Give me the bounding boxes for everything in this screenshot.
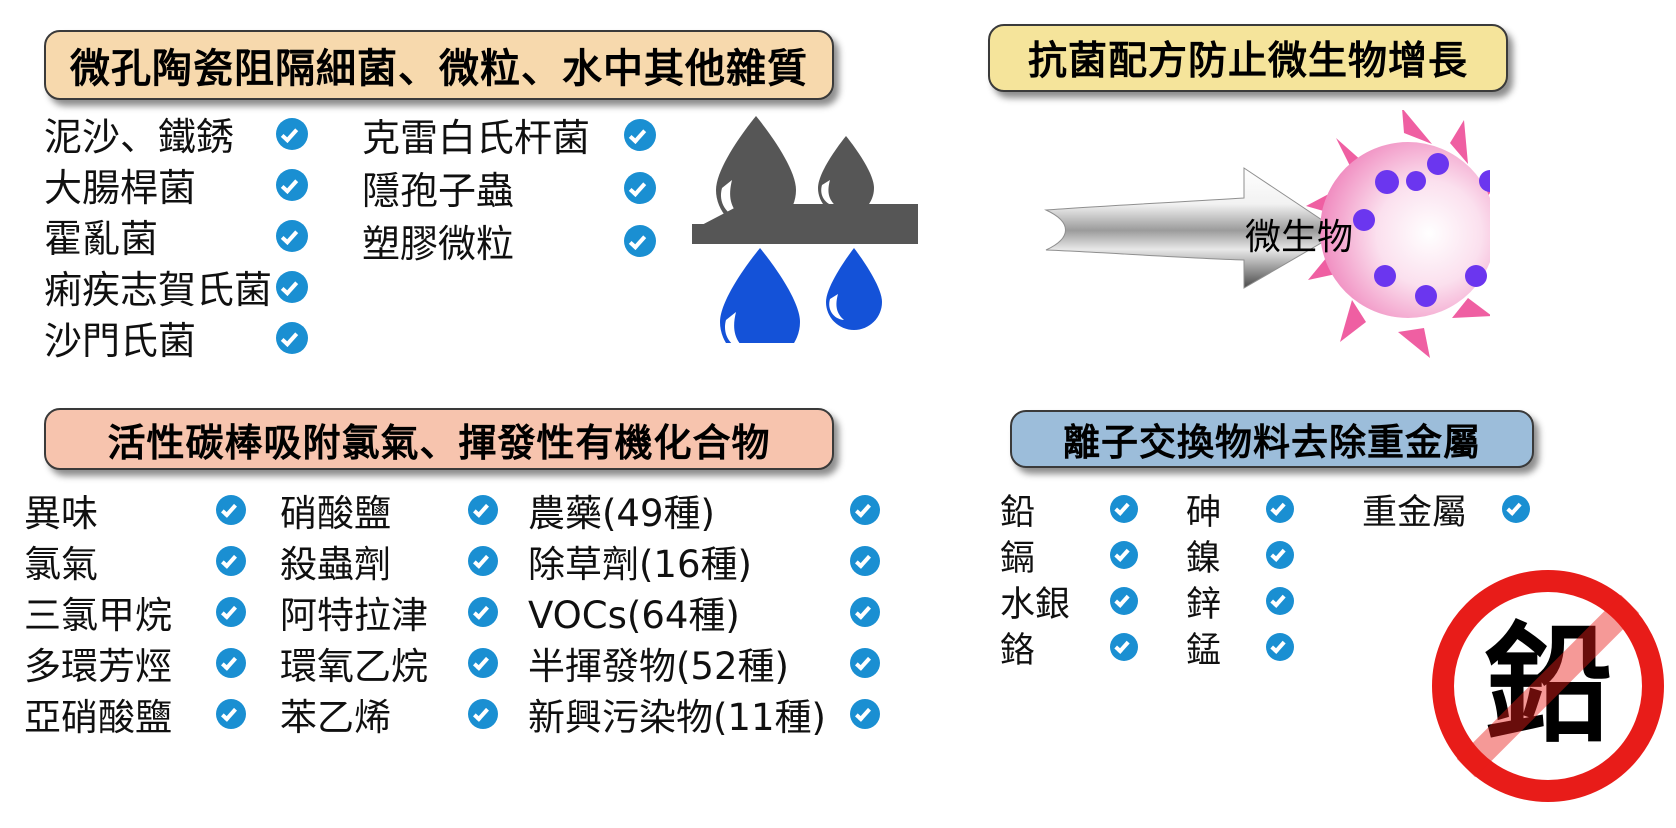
check-icon [468, 648, 498, 678]
list-item: 殺蟲劑 [280, 535, 498, 586]
list-item: 三氯甲烷 [24, 586, 246, 637]
check-icon [1110, 495, 1138, 523]
list-item-label: 隱孢子蟲 [362, 160, 624, 215]
check-icon [624, 172, 656, 204]
ion-list-col2: 砷 鎳 鋅 錳 [1186, 486, 1294, 670]
ceramic-list-right: 克雷白氏杆菌 隱孢子蟲 塑膠微粒 [362, 108, 656, 267]
list-item-label: 克雷白氏杆菌 [362, 107, 624, 162]
check-icon [468, 546, 498, 576]
ion-list-col3: 重金屬 [1362, 486, 1530, 532]
list-item-label: 除草劑(16種) [528, 534, 850, 588]
list-item: 隱孢子蟲 [362, 161, 656, 214]
list-item: 鎳 [1186, 532, 1294, 578]
microbe-label: 微生物 [1245, 208, 1353, 260]
panel-title-antibacterial: 抗菌配方防止微生物增長 [988, 24, 1508, 92]
no-lead-sign: 鉛 [1432, 570, 1664, 802]
list-item: 亞硝酸鹽 [24, 688, 246, 739]
check-icon [1266, 587, 1294, 615]
list-item-label: 錳 [1186, 622, 1266, 673]
list-item: 砷 [1186, 486, 1294, 532]
list-item-label: 重金屬 [1362, 484, 1502, 535]
list-item: 塑膠微粒 [362, 214, 656, 267]
list-item-label: 硝酸鹽 [280, 483, 468, 537]
list-item-label: 氯氣 [24, 534, 216, 588]
check-icon [468, 495, 498, 525]
check-icon [850, 495, 880, 525]
check-icon [1110, 541, 1138, 569]
list-item-label: 痢疾志賀氏菌 [44, 259, 276, 314]
ion-list-col1: 鉛 鎘 水銀 鉻 [1000, 486, 1138, 670]
panel-title-ceramic: 微孔陶瓷阻隔細菌、微粒、水中其他雜質 [44, 30, 834, 100]
list-item: VOCs(64種) [528, 586, 880, 637]
list-item: 大腸桿菌 [44, 159, 308, 210]
list-item: 多環芳烴 [24, 637, 246, 688]
check-icon [216, 699, 246, 729]
list-item: 重金屬 [1362, 486, 1530, 532]
infographic-canvas: 微孔陶瓷阻隔細菌、微粒、水中其他雜質 泥沙、鐵銹 大腸桿菌 霍亂菌 痢疾志賀氏菌… [0, 0, 1676, 828]
list-item: 除草劑(16種) [528, 535, 880, 586]
check-icon [276, 322, 308, 354]
list-item: 鉻 [1000, 624, 1138, 670]
check-icon [216, 495, 246, 525]
list-item-label: 異味 [24, 483, 216, 537]
list-item-label: 亞硝酸鹽 [24, 687, 216, 741]
check-icon [850, 699, 880, 729]
check-icon [1110, 633, 1138, 661]
list-item-label: 三氯甲烷 [24, 585, 216, 639]
list-item: 水銀 [1000, 578, 1138, 624]
check-icon [468, 699, 498, 729]
list-item-label: 泥沙、鐵銹 [44, 106, 276, 161]
check-icon [624, 225, 656, 257]
list-item-label: 半揮發物(52種) [528, 636, 850, 690]
list-item-label: 鉛 [1000, 484, 1110, 535]
filter-droplets-icon [688, 108, 918, 343]
check-icon [850, 648, 880, 678]
check-icon [276, 271, 308, 303]
carbon-list-col3: 農藥(49種) 除草劑(16種) VOCs(64種) 半揮發物(52種) 新興污… [528, 484, 880, 739]
list-item-label: 塑膠微粒 [362, 213, 624, 268]
list-item: 鉛 [1000, 486, 1138, 532]
list-item: 半揮發物(52種) [528, 637, 880, 688]
list-item: 農藥(49種) [528, 484, 880, 535]
check-icon [1110, 587, 1138, 615]
list-item: 環氧乙烷 [280, 637, 498, 688]
list-item-label: 鉻 [1000, 622, 1110, 673]
carbon-list-col2: 硝酸鹽 殺蟲劑 阿特拉津 環氧乙烷 苯乙烯 [280, 484, 498, 739]
panel-title-carbon: 活性碳棒吸附氯氣、揮發性有機化合物 [44, 408, 834, 470]
list-item: 痢疾志賀氏菌 [44, 261, 308, 312]
list-item-label: 沙門氏菌 [44, 310, 276, 365]
list-item: 異味 [24, 484, 246, 535]
list-item: 鋅 [1186, 578, 1294, 624]
panel-title-ion-exchange: 離子交換物料去除重金屬 [1010, 410, 1534, 468]
check-icon [216, 597, 246, 627]
list-item-label: 鎳 [1186, 530, 1266, 581]
list-item: 苯乙烯 [280, 688, 498, 739]
list-item-label: 鎘 [1000, 530, 1110, 581]
check-icon [276, 220, 308, 252]
list-item: 新興污染物(11種) [528, 688, 880, 739]
check-icon [1502, 495, 1530, 523]
list-item-label: 殺蟲劑 [280, 534, 468, 588]
list-item: 霍亂菌 [44, 210, 308, 261]
check-icon [1266, 495, 1294, 523]
list-item: 阿特拉津 [280, 586, 498, 637]
list-item-label: 水銀 [1000, 576, 1110, 627]
list-item: 泥沙、鐵銹 [44, 108, 308, 159]
check-icon [468, 597, 498, 627]
list-item-label: 鋅 [1186, 576, 1266, 627]
check-icon [1266, 541, 1294, 569]
list-item-label: 大腸桿菌 [44, 157, 276, 212]
check-icon [1266, 633, 1294, 661]
check-icon [850, 597, 880, 627]
list-item-label: 農藥(49種) [528, 483, 850, 537]
list-item: 氯氣 [24, 535, 246, 586]
list-item: 沙門氏菌 [44, 312, 308, 363]
check-icon [276, 169, 308, 201]
check-icon [216, 546, 246, 576]
carbon-list-col1: 異味 氯氣 三氯甲烷 多環芳烴 亞硝酸鹽 [24, 484, 246, 739]
check-icon [624, 119, 656, 151]
check-icon [276, 118, 308, 150]
list-item-label: 環氧乙烷 [280, 636, 468, 690]
list-item-label: VOCs(64種) [528, 585, 850, 639]
list-item-label: 多環芳烴 [24, 636, 216, 690]
check-icon [850, 546, 880, 576]
list-item-label: 阿特拉津 [280, 585, 468, 639]
list-item: 鎘 [1000, 532, 1138, 578]
list-item: 克雷白氏杆菌 [362, 108, 656, 161]
list-item-label: 砷 [1186, 484, 1266, 535]
list-item: 硝酸鹽 [280, 484, 498, 535]
list-item-label: 苯乙烯 [280, 687, 468, 741]
check-icon [216, 648, 246, 678]
ceramic-list-left: 泥沙、鐵銹 大腸桿菌 霍亂菌 痢疾志賀氏菌 沙門氏菌 [44, 108, 308, 363]
list-item-label: 霍亂菌 [44, 208, 276, 263]
list-item: 錳 [1186, 624, 1294, 670]
list-item-label: 新興污染物(11種) [528, 687, 850, 741]
